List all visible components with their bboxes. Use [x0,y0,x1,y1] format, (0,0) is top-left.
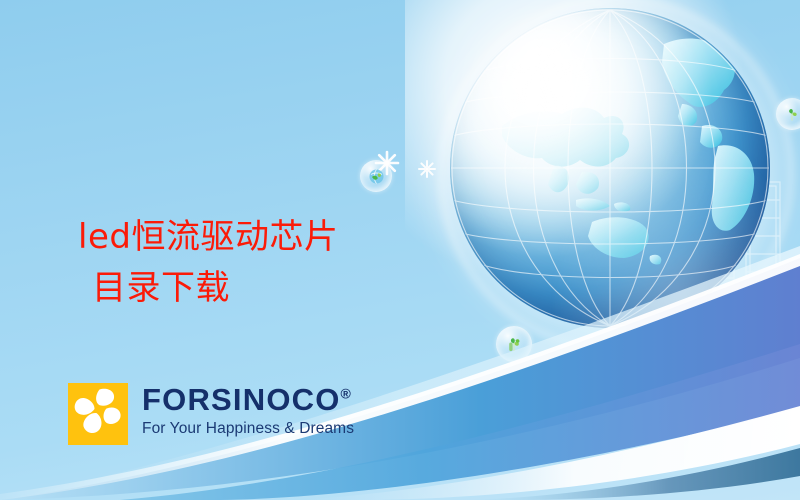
logo-text-block: FORSINOCO® For Your Happiness & Dreams [142,383,354,438]
brand-name: FORSINOCO® [142,384,354,415]
headline: led恒流驱动芯片 目录下载 [78,160,498,367]
globe-illustration [450,8,770,328]
headline-line-1: led恒流驱动芯片 [78,217,338,257]
headline-line-2: 目录下载 [92,263,498,315]
brand-word: FORSINOCO [142,382,341,417]
registered-mark: ® [341,386,351,402]
bubble-edge-right [776,98,800,130]
bubble-sapling [496,326,532,362]
green-sapling-icon [504,334,524,354]
logo-mark [68,383,128,445]
ribbon-steel [470,448,800,500]
green-sapling-icon [783,105,800,123]
company-logo: FORSINOCO® For Your Happiness & Dreams [68,383,354,445]
brand-tagline: For Your Happiness & Dreams [142,420,354,438]
four-petal-pinwheel-icon [68,383,128,445]
promo-banner: led恒流驱动芯片 目录下载 FORSINOCO® For Your Happi… [0,0,800,500]
ribbon-white-band [300,406,800,500]
